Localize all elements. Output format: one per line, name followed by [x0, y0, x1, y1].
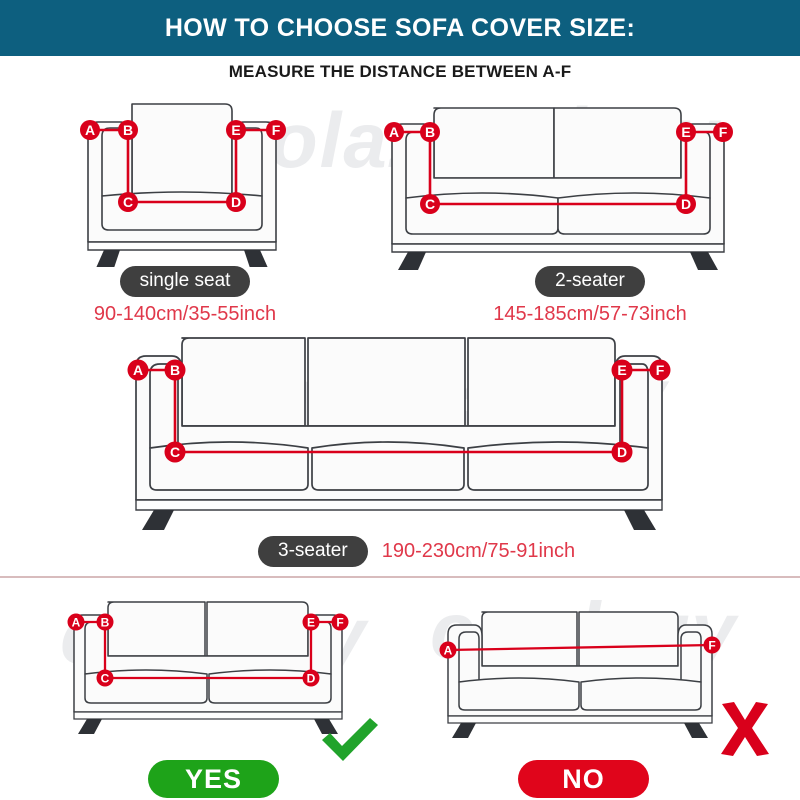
three-seater-badge: 3-seater — [258, 536, 368, 567]
no-button[interactable]: NO — [518, 760, 649, 798]
single-seat-labels: single seat 90-140cm/35-55inch — [0, 266, 370, 326]
svg-text:A: A — [444, 644, 453, 658]
single-seat-dimensions: 90-140cm/35-55inch — [0, 303, 370, 326]
three-seater-labels: 3-seater 190-230cm/75-91inch — [258, 536, 575, 567]
correct-example-diagram: A B C D E F — [62, 594, 352, 739]
two-seater-measure-overlay: A B C D E F — [378, 98, 738, 270]
measure-markers: A B C D E F — [384, 122, 733, 214]
svg-text:D: D — [231, 194, 241, 210]
two-seater-badge: 2-seater — [535, 266, 645, 297]
measure-markers: A B C D E F — [68, 614, 349, 687]
incorrect-example-measure-overlay: A F — [434, 600, 724, 738]
svg-text:E: E — [617, 362, 626, 378]
page-title: HOW TO CHOOSE SOFA COVER SIZE: — [165, 14, 635, 43]
two-seater-labels: 2-seater 145-185cm/57-73inch — [400, 266, 780, 326]
svg-text:A: A — [85, 122, 95, 138]
svg-text:B: B — [123, 122, 133, 138]
svg-text:B: B — [101, 616, 110, 630]
svg-text:C: C — [425, 196, 435, 212]
svg-text:F: F — [708, 639, 715, 653]
two-seater-dimensions: 145-185cm/57-73inch — [400, 303, 780, 326]
three-seater-diagram: A B C D E F — [120, 330, 690, 535]
svg-text:B: B — [170, 362, 180, 378]
svg-text:D: D — [617, 444, 627, 460]
svg-text:E: E — [307, 616, 315, 630]
yes-button-label: YES — [185, 764, 242, 795]
x-mark-glyph — [716, 700, 774, 763]
measure-markers: A B C D E F — [128, 360, 671, 463]
svg-text:D: D — [681, 196, 691, 212]
svg-text:A: A — [133, 362, 143, 378]
svg-text:B: B — [425, 124, 435, 140]
svg-text:D: D — [307, 672, 316, 686]
svg-text:F: F — [656, 362, 665, 378]
check-mark-icon — [318, 716, 382, 767]
subtitle: MEASURE THE DISTANCE BETWEEN A-F — [0, 62, 800, 82]
single-seat-measure-overlay: A B C D E F — [70, 92, 295, 267]
incorrect-example-diagram: A F — [434, 600, 724, 743]
svg-text:F: F — [719, 124, 728, 140]
measure-markers: A B C D E F — [80, 120, 286, 212]
section-divider — [0, 576, 800, 578]
no-button-label: NO — [562, 764, 605, 795]
svg-text:E: E — [231, 122, 240, 138]
page-header: HOW TO CHOOSE SOFA COVER SIZE: — [0, 0, 800, 56]
svg-text:F: F — [336, 616, 343, 630]
infographic-page: HOW TO CHOOSE SOFA COVER SIZE: MEASURE T… — [0, 0, 800, 800]
single-seat-badge: single seat — [120, 266, 251, 297]
three-seater-measure-overlay: A B C D E F — [120, 330, 690, 530]
yes-button[interactable]: YES — [148, 760, 279, 798]
svg-text:C: C — [123, 194, 133, 210]
three-seater-dimensions: 190-230cm/75-91inch — [382, 540, 575, 563]
two-seater-diagram: A B C D E F — [378, 98, 738, 275]
correct-example-measure-overlay: A B C D E F — [62, 594, 352, 734]
svg-text:F: F — [272, 122, 281, 138]
svg-text:E: E — [681, 124, 690, 140]
svg-text:C: C — [170, 444, 180, 460]
svg-text:A: A — [72, 616, 81, 630]
svg-text:C: C — [101, 672, 110, 686]
single-seat-diagram: A B C D E F — [70, 92, 295, 272]
svg-text:A: A — [389, 124, 399, 140]
